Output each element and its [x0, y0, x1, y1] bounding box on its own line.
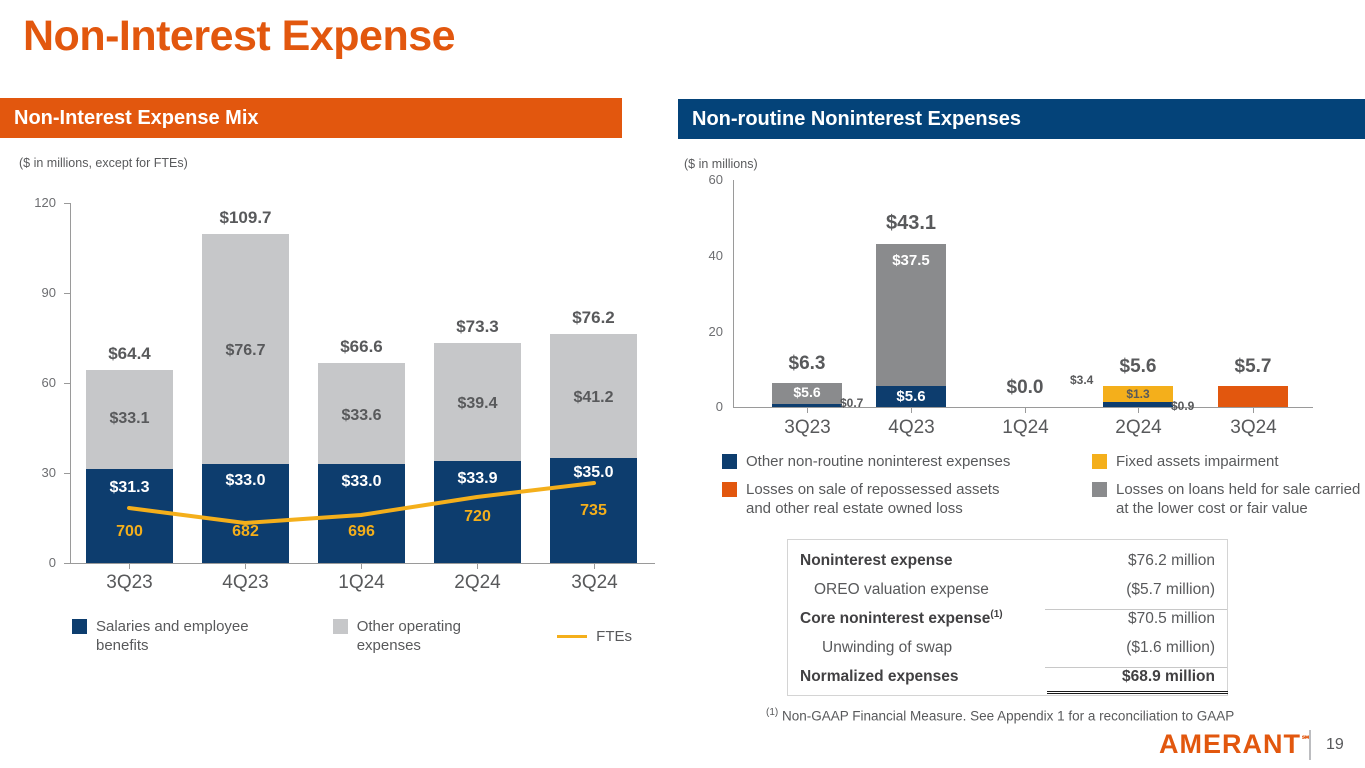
left-bar-1Q24-fte-label: 696: [318, 523, 405, 541]
right-xcat-1Q24: 1Q24: [982, 417, 1069, 439]
recon-label-core-superscript: (1): [990, 609, 1002, 620]
right-xtick-1Q24: [1025, 407, 1026, 413]
right-bar-2Q24-other-label: $0.9: [1171, 399, 1194, 413]
right-bar-2Q24-lhfs-label: $3.4: [1070, 373, 1093, 387]
right-legend-item-lhfs[interactable]: Losses on loans held for sale carried at…: [1092, 480, 1362, 518]
right-legend-item-other-nonroutine[interactable]: Other non-routine noninterest expenses: [722, 452, 1092, 471]
recon-label-core-text: Core noninterest expense: [800, 610, 990, 627]
left-xtick-2Q24: [477, 563, 478, 569]
left-bar-3Q24-fte-label: 735: [550, 502, 637, 520]
left-bar-2Q24-salaries-label: $33.9: [434, 470, 521, 488]
right-legend-item-fixed-assets[interactable]: Fixed assets impairment: [1092, 452, 1362, 471]
recon-label-unwinding-swap: Unwinding of swap: [788, 639, 1045, 657]
right-x-axis: [733, 407, 1313, 408]
left-xcat-3Q24: 3Q24: [551, 572, 638, 594]
right-legend-label-lhfs-line1: Losses on loans held for sale carried: [1116, 481, 1360, 498]
table-row: Unwinding of swap ($1.6 million): [788, 633, 1227, 662]
left-bar-4Q23-fte-label: 682: [202, 523, 289, 541]
left-bar-3Q23-fte-label: 700: [86, 523, 173, 541]
right-bar-2Q24-total-label: $5.6: [1103, 356, 1173, 378]
left-x-axis: [70, 563, 655, 564]
right-chart-legend: Other non-routine noninterest expenses F…: [722, 452, 1362, 519]
right-bar-3Q23-lhfs-label: $5.6: [772, 384, 842, 400]
recon-value-oreo-valuation: ($5.7 million): [1045, 581, 1227, 599]
left-legend-label-ftes: FTEs: [596, 627, 632, 646]
left-ytick-30: [64, 473, 70, 474]
table-row: Normalized expenses $68.9 million: [788, 662, 1227, 691]
left-ytick-label-30: 30: [10, 465, 56, 480]
left-xtick-1Q24: [361, 563, 362, 569]
right-xcat-3Q23: 3Q23: [764, 417, 851, 439]
left-chart-legend: Salaries and employee benefits Other ope…: [72, 617, 632, 655]
right-legend-label-lhfs-line2: at the lower cost or fair value: [1116, 500, 1308, 517]
table-row: OREO valuation expense ($5.7 million): [788, 575, 1227, 604]
page-number: 19: [1326, 736, 1344, 754]
right-legend-label-fixed-assets: Fixed assets impairment: [1116, 452, 1279, 471]
recon-total-underline: [1047, 691, 1228, 694]
left-xcat-1Q24: 1Q24: [318, 572, 405, 594]
right-bar-4Q23-total-label: $43.1: [876, 212, 946, 235]
right-legend-label-other-nonroutine: Other non-routine noninterest expenses: [746, 452, 1010, 471]
right-legend-label-repossessed-line1: Losses on sale of repossessed assets: [746, 481, 999, 498]
right-bar-4Q23: $37.5 $5.6 $43.1: [876, 244, 946, 407]
line-swatch-icon: [557, 635, 587, 638]
left-bar-4Q23-salaries-label: $33.0: [202, 472, 289, 490]
right-bar-3Q24-total-label: $5.7: [1218, 356, 1288, 378]
recon-value-noninterest-expense: $76.2 million: [1045, 552, 1227, 570]
right-xcat-2Q24: 2Q24: [1095, 417, 1182, 439]
right-legend-item-repossessed[interactable]: Losses on sale of repossessed assets and…: [722, 480, 1092, 518]
right-xtick-3Q24: [1253, 407, 1254, 413]
footnote: (1) Non-GAAP Financial Measure. See Appe…: [766, 707, 1234, 724]
square-swatch-icon: [1092, 454, 1107, 469]
recon-value-core-noninterest-expense: $70.5 million: [1045, 609, 1227, 628]
footnote-text: Non-GAAP Financial Measure. See Appendix…: [782, 709, 1234, 724]
square-swatch-icon: [72, 619, 87, 634]
right-bar-4Q23-lhfs-label: $37.5: [876, 252, 946, 269]
right-xcat-4Q23: 4Q23: [868, 417, 955, 439]
table-row: Core noninterest expense(1) $70.5 millio…: [788, 604, 1227, 633]
left-bar-3Q24-salaries-label: $35.0: [550, 464, 637, 482]
right-bar-1Q24-total-label: $0.0: [990, 377, 1060, 399]
right-bar-3Q23-total-label: $6.3: [772, 353, 842, 375]
left-legend-label-salaries: Salaries and employee benefits: [96, 617, 303, 655]
left-xcat-3Q23: 3Q23: [86, 572, 173, 594]
right-xcat-3Q24: 3Q24: [1210, 417, 1297, 439]
right-chart-plot: 60 40 20 0 $5.6 $0.7 $6.3 $37.5 $5.6 $43…: [0, 0, 1365, 445]
right-ytick-label-40: 40: [683, 248, 723, 263]
right-bar-3Q24: $5.7: [1218, 386, 1288, 407]
amerant-logo: AMERANT℠: [1159, 729, 1311, 760]
left-bar-1Q24-salaries-label: $33.0: [318, 473, 405, 491]
right-xtick-3Q23: [807, 407, 808, 413]
right-ytick-label-60: 60: [683, 172, 723, 187]
square-swatch-icon: [722, 454, 737, 469]
footer-divider: [1309, 730, 1311, 760]
recon-value-unwinding-swap: ($1.6 million): [1045, 639, 1227, 657]
right-bar-2Q24: $1.3 $3.4 $0.9 $5.6: [1103, 386, 1173, 407]
recon-label-normalized-expenses: Normalized expenses: [788, 668, 1045, 686]
recon-value-normalized-expenses: $68.9 million: [1045, 667, 1227, 686]
square-swatch-icon: [1092, 482, 1107, 497]
logo-text: AMERANT: [1159, 729, 1301, 759]
square-swatch-icon: [722, 482, 737, 497]
left-xcat-2Q24: 2Q24: [434, 572, 521, 594]
right-bar-3Q23: $5.6 $0.7 $6.3: [772, 383, 842, 407]
left-bar-2Q24-fte-label: 720: [434, 508, 521, 526]
left-xtick-3Q24: [594, 563, 595, 569]
right-xtick-2Q24: [1138, 407, 1139, 413]
right-ytick-label-20: 20: [683, 324, 723, 339]
right-bar-2Q24-fixed-assets-label: $1.3: [1103, 387, 1173, 401]
square-swatch-icon: [333, 619, 348, 634]
left-xtick-3Q23: [129, 563, 130, 569]
right-ytick-label-0: 0: [683, 399, 723, 414]
table-row: Noninterest expense $76.2 million: [788, 546, 1227, 575]
recon-label-oreo-valuation: OREO valuation expense: [788, 581, 1045, 599]
right-legend-label-repossessed-line2: and other real estate owned loss: [746, 500, 963, 517]
left-legend-item-ftes[interactable]: FTEs: [557, 627, 632, 646]
right-bar-3Q23-other-label: $0.7: [840, 396, 863, 410]
footnote-marker: (1): [766, 707, 778, 718]
recon-label-core-noninterest-expense: Core noninterest expense(1): [788, 609, 1045, 628]
left-xcat-4Q23: 4Q23: [202, 572, 289, 594]
left-xtick-4Q23: [245, 563, 246, 569]
reconciliation-table: Noninterest expense $76.2 million OREO v…: [787, 539, 1228, 696]
left-legend-label-other: Other operating expenses: [357, 617, 527, 655]
left-bar-3Q23-salaries-label: $31.3: [86, 479, 173, 497]
left-legend-item-other[interactable]: Other operating expenses: [333, 617, 527, 655]
left-ytick-label-0: 0: [10, 555, 56, 570]
right-bar-3Q24-oreo: [1218, 386, 1288, 407]
recon-label-noninterest-expense: Noninterest expense: [788, 552, 1045, 570]
right-bar-4Q23-other-label: $5.6: [876, 388, 946, 405]
right-xtick-4Q23: [911, 407, 912, 413]
right-y-axis: [733, 180, 734, 408]
left-legend-item-salaries[interactable]: Salaries and employee benefits: [72, 617, 303, 655]
